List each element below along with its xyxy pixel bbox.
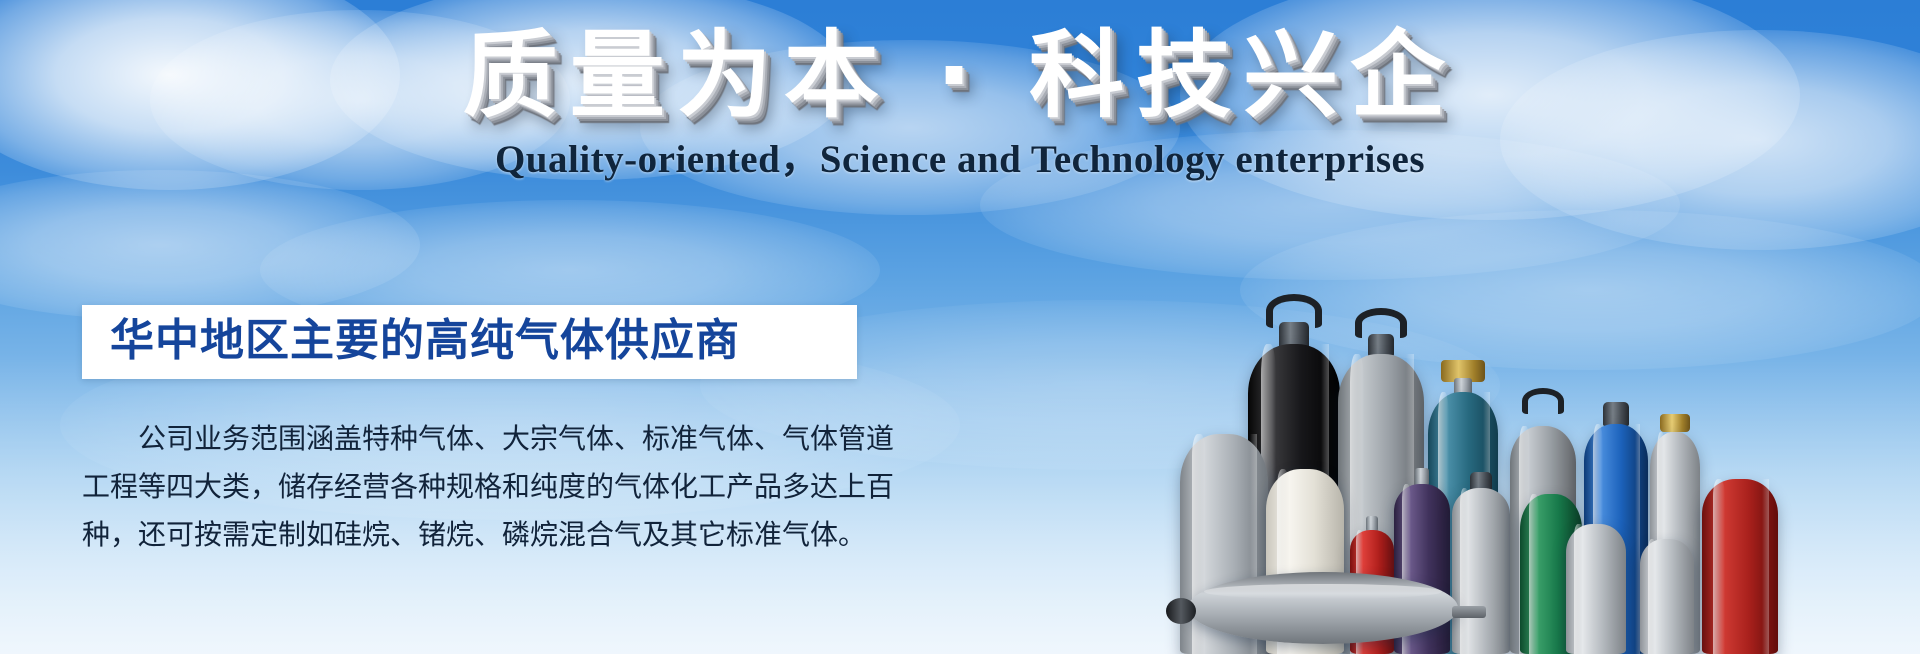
- description-paragraph: 公司业务范围涵盖特种气体、大宗气体、标准气体、气体管道 工程等四大类，储存经营各…: [82, 415, 872, 559]
- cylinder-body: [1640, 539, 1694, 654]
- cylinder-body: [1452, 488, 1510, 654]
- headline-chinese: 质量为本 · 科技兴企: [463, 22, 1457, 130]
- tank-highlight: [1204, 584, 1442, 600]
- cylinder-highlight: [1648, 539, 1657, 654]
- copy-block: 华中地区主要的高纯气体供应商 公司业务范围涵盖特种气体、大宗气体、标准气体、气体…: [82, 305, 882, 559]
- cylinder-body: [1566, 524, 1626, 654]
- cylinder-valve: [1660, 414, 1690, 432]
- paragraph-line: 公司业务范围涵盖特种气体、大宗气体、标准气体、气体管道: [82, 415, 872, 463]
- gas-cylinder-group: [1180, 234, 1920, 654]
- hero-banner: 质量为本 · 科技兴企 Quality-oriented，Science and…: [0, 0, 1920, 654]
- tank-valve: [1166, 598, 1196, 624]
- cylinder-highlight: [1713, 479, 1725, 654]
- horizontal-tank: [1188, 572, 1458, 644]
- headline-english: Quality-oriented，Science and Technology …: [0, 138, 1920, 182]
- headline-block: 质量为本 · 科技兴企 Quality-oriented，Science and…: [0, 22, 1920, 182]
- paragraph-line: 工程等四大类，储存经营各种规格和纯度的气体化工产品多达上百: [82, 463, 872, 511]
- aluminium-cylinder: [1452, 484, 1510, 654]
- cylinder-cap: [1603, 402, 1629, 426]
- cylinder-cap: [1368, 334, 1394, 356]
- short-aluminium-cylinder: [1566, 524, 1626, 654]
- cloud-shape: [0, 170, 420, 320]
- tank-outlet: [1452, 606, 1486, 618]
- cylinder-highlight: [1529, 494, 1539, 654]
- cylinder-highlight: [1574, 524, 1584, 654]
- right-aluminium-bottle: [1640, 539, 1694, 654]
- cylinder-highlight: [1762, 479, 1769, 654]
- cylinder-valve-guard: [1522, 388, 1564, 414]
- cylinder-body: [1702, 479, 1778, 654]
- callout-box: 华中地区主要的高纯气体供应商: [82, 305, 857, 379]
- paragraph-line: 种，还可按需定制如硅烷、锗烷、磷烷混合气及其它标准气体。: [82, 511, 872, 559]
- callout-text: 华中地区主要的高纯气体供应商: [110, 315, 831, 367]
- cylinder-highlight: [1460, 488, 1469, 654]
- dark-red-cylinder: [1702, 479, 1778, 654]
